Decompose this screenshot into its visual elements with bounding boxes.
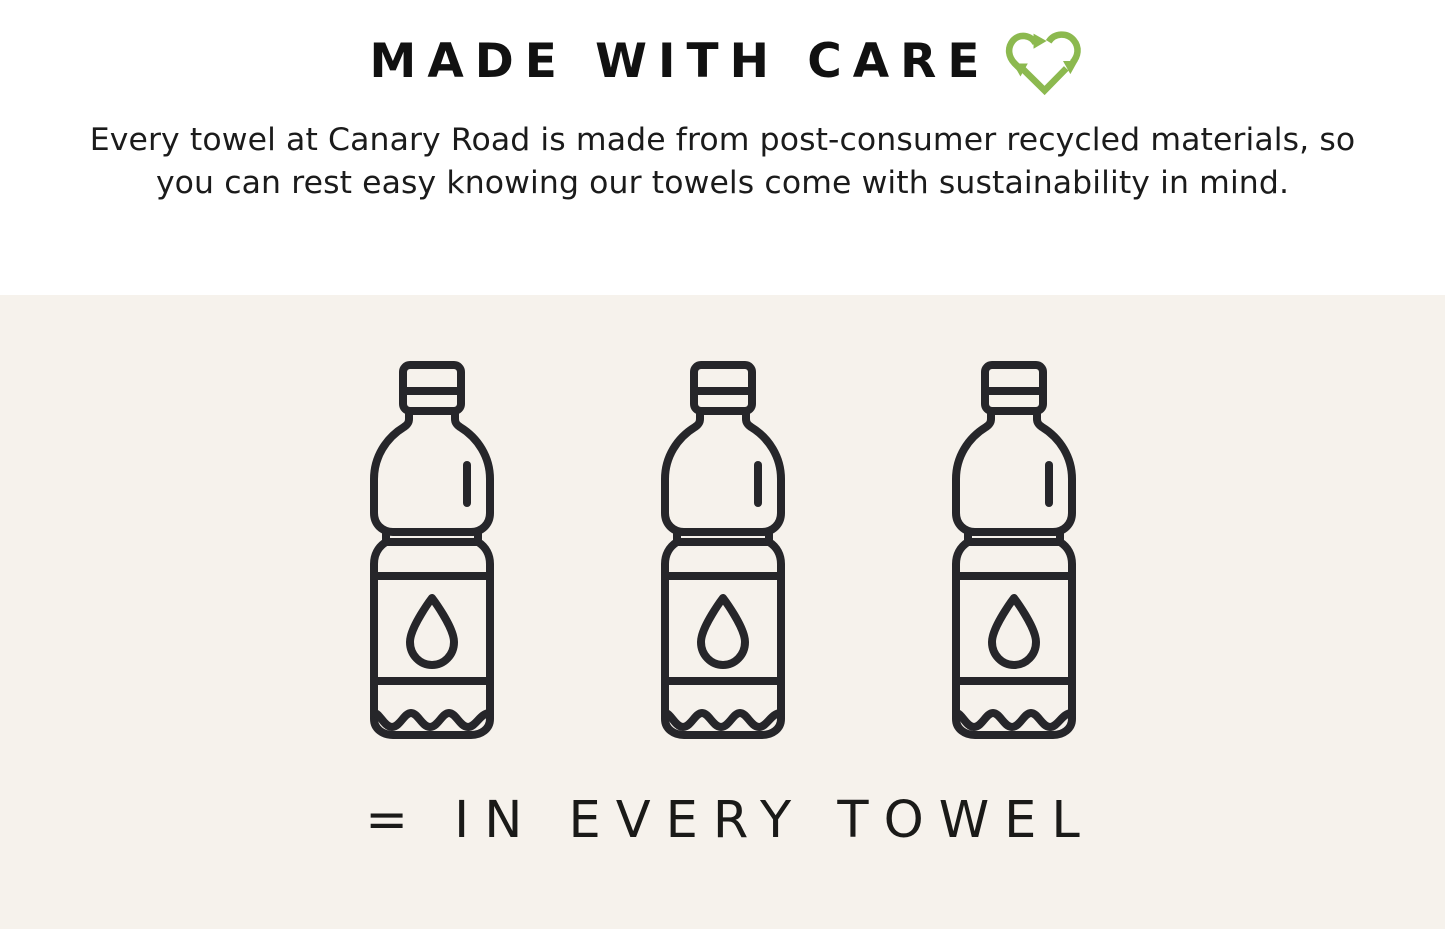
- water-droplet-icon: [701, 598, 745, 665]
- illustration-section: = IN EVERY TOWEL: [0, 295, 1445, 929]
- water-droplet-icon: [410, 598, 454, 665]
- plastic-bottle-icon: [364, 361, 500, 739]
- water-droplet-icon: [992, 598, 1036, 665]
- plastic-bottle-icon: [655, 361, 791, 739]
- made-with-care-panel: MADE WITH CARE: [0, 0, 1445, 929]
- plastic-bottle-icon: [946, 361, 1082, 739]
- heart-recycle-icon: [1004, 25, 1086, 97]
- bottles-row: [364, 359, 1082, 739]
- headline-row: MADE WITH CARE: [359, 22, 1087, 100]
- intro-paragraph: Every towel at Canary Road is made from …: [78, 119, 1368, 205]
- header-section: MADE WITH CARE: [0, 0, 1445, 295]
- illustration-caption: = IN EVERY TOWEL: [350, 795, 1095, 846]
- page-title: MADE WITH CARE: [359, 38, 991, 85]
